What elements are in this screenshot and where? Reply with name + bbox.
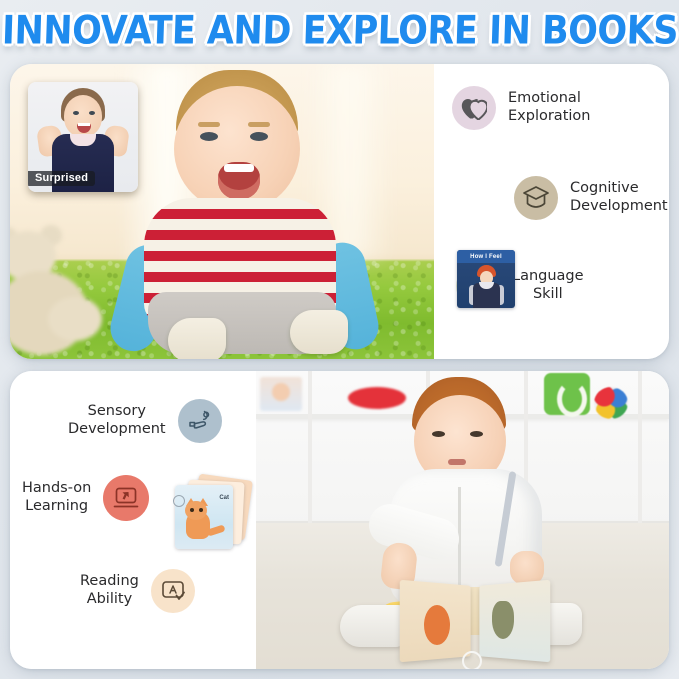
colorful-ball-toy bbox=[594, 387, 628, 419]
feature-hands-on-learning[interactable]: Hands-on Learning bbox=[22, 475, 149, 521]
shelf-photo-frame bbox=[260, 377, 302, 411]
feature-label-line1: Cognitive bbox=[570, 180, 639, 196]
feature-label-line2: Learning bbox=[25, 498, 88, 514]
book-ring bbox=[462, 651, 482, 669]
graduation-cap-icon bbox=[514, 176, 558, 220]
feature-label-line1: Emotional bbox=[508, 90, 581, 106]
flashcard-ring bbox=[173, 495, 185, 507]
open-cloth-book bbox=[400, 583, 552, 665]
baby-on-carpet-photo: Surprised bbox=[10, 64, 434, 359]
feature-label: Hands-on Learning bbox=[22, 480, 91, 515]
front-flashcard: Cat bbox=[175, 485, 233, 549]
feature-label-line2: Ability bbox=[87, 591, 132, 607]
how-i-feel-book-thumbnail[interactable]: How I Feel bbox=[457, 250, 515, 308]
feature-label-line1: Reading bbox=[80, 573, 139, 589]
feature-label-line1: Hands-on bbox=[22, 480, 91, 496]
bottom-feature-panel: Sensory Development Hands-on Learning bbox=[10, 371, 669, 669]
flashcard-word-label: Cat bbox=[219, 495, 229, 501]
baby-right-sock bbox=[290, 310, 348, 354]
feature-label-line1: Sensory bbox=[88, 403, 146, 419]
feature-label: Reading Ability bbox=[80, 573, 139, 608]
book-title-label: How I Feel bbox=[470, 254, 502, 260]
feature-emotional-exploration[interactable]: Emotional Exploration bbox=[452, 86, 590, 130]
baby-left-sock bbox=[168, 318, 226, 359]
surprised-inset-photo-card: Surprised bbox=[28, 82, 138, 192]
page-header: INNOVATE AND EXPLORE IN BOOKS bbox=[0, 0, 679, 62]
teddy-bear-toy bbox=[10, 227, 104, 355]
baby-figure bbox=[114, 70, 382, 359]
book-right-page bbox=[479, 580, 550, 663]
feature-sensory-development[interactable]: Sensory Development bbox=[68, 399, 222, 443]
book-title-band: How I Feel bbox=[457, 250, 515, 263]
inset-caption-label: Surprised bbox=[28, 171, 95, 186]
top-features-list: Emotional Exploration Cognitive Developm… bbox=[440, 64, 669, 359]
feature-label-line2: Development bbox=[68, 421, 166, 437]
feature-label: Language Skill bbox=[512, 268, 584, 303]
tap-screen-icon bbox=[103, 475, 149, 521]
feature-label: Sensory Development bbox=[68, 403, 166, 438]
touch-hand-icon bbox=[178, 399, 222, 443]
feature-label-line1: Language bbox=[512, 268, 584, 284]
feature-cognitive-development[interactable]: Cognitive Development bbox=[514, 176, 668, 220]
feature-label-line2: Skill bbox=[533, 286, 563, 302]
feature-label: Emotional Exploration bbox=[508, 90, 590, 125]
feature-label-line2: Exploration bbox=[508, 108, 590, 124]
baby-open-mouth bbox=[218, 162, 260, 200]
page-title: INNOVATE AND EXPLORE IN BOOKS bbox=[1, 9, 678, 54]
feature-label-line2: Development bbox=[570, 198, 668, 214]
top-feature-panel: Surprised Emotional Exploration bbox=[10, 64, 669, 359]
cat-flashcards-thumbnail[interactable]: Cat bbox=[173, 477, 249, 551]
feature-label: Cognitive Development bbox=[570, 180, 668, 215]
feature-reading-ability[interactable]: Reading Ability bbox=[80, 569, 195, 613]
letter-a-check-icon bbox=[151, 569, 195, 613]
hearts-icon bbox=[452, 86, 496, 130]
